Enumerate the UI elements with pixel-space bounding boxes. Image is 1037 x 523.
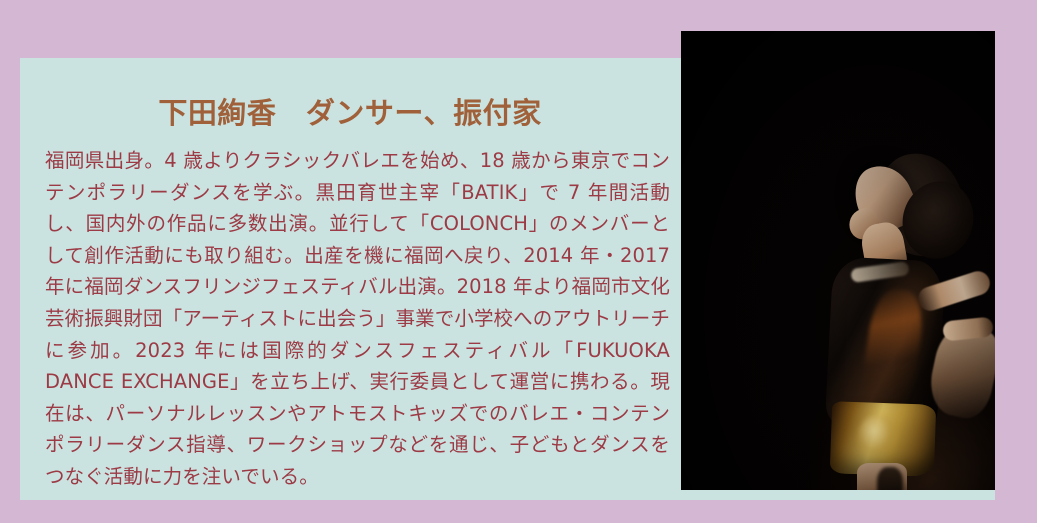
dancer-arm-lower xyxy=(924,322,995,423)
dancer-hair xyxy=(867,145,973,265)
dancer-leg xyxy=(857,463,907,490)
dancer-head xyxy=(845,156,923,239)
dancer-top-sheen xyxy=(859,286,927,410)
dancer-hair-back xyxy=(893,172,984,268)
dancer-skirt xyxy=(830,401,936,477)
dancer-skirt-highlight xyxy=(857,415,899,461)
photo-vignette xyxy=(681,31,995,490)
dancer-leg-shadow xyxy=(877,467,903,490)
dancer-neck xyxy=(859,220,909,279)
dancer-photo xyxy=(681,31,995,490)
dancer-hand xyxy=(942,316,994,341)
page-root: 下田絢香 ダンサー、振付家 福岡県出身。4 歳よりクラシックバレエを始め、18 … xyxy=(0,0,1037,523)
dancer-chin xyxy=(844,204,883,243)
dancer-top xyxy=(825,256,946,432)
stage-glow xyxy=(801,331,995,490)
profile-biography-text: 福岡県出身。4 歳よりクラシックバレエを始め、18 歳から東京でコンテンポラリー… xyxy=(45,145,670,493)
page-title: 下田絢香 ダンサー、振付家 xyxy=(20,98,680,130)
dancer-arm-upper xyxy=(915,268,993,314)
dancer-strap xyxy=(850,261,909,283)
